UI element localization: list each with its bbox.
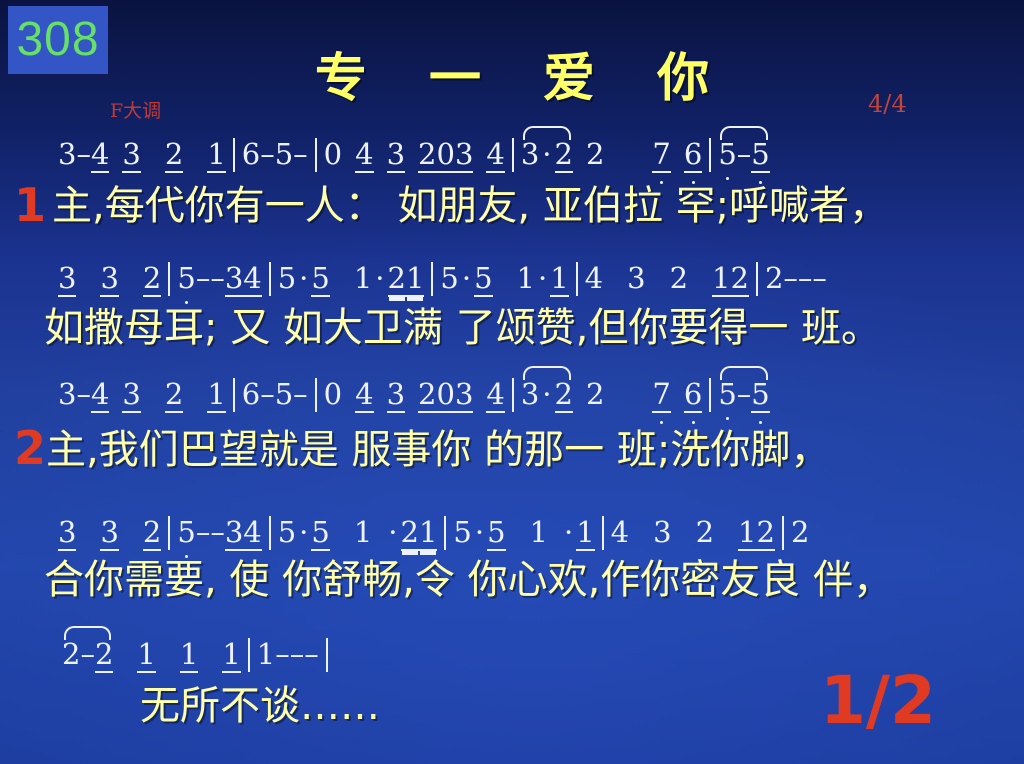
lyrics-line-2: 如撒母耳; 又 如大卫满 了颂赞,但你要得一 班。	[44, 308, 881, 348]
verse-number-1: 1	[14, 182, 46, 228]
lyrics-line-3: 主,我们巴望就是 服事你 的那一 班;洗你脚，	[46, 430, 830, 470]
lyrics-line-4: 合你需要, 使 你舒畅,令 你心欢,作你密友良 伴，	[44, 560, 893, 600]
lyrics-line-5: 无所不谈……	[140, 686, 380, 726]
lyrics-line-1: 主,每代你有一人： 如朋友, 亚伯拉 罕;呼喊者，	[52, 186, 889, 226]
notation-line-5: 2–21111–––	[62, 638, 335, 673]
notation-line-4: 3325––345·51·215·51·1432122	[58, 516, 809, 551]
time-signature-label: 4/4	[868, 90, 907, 118]
slide-canvas: 308 专 一 爱 你 F大调 4/4 1 2 3–43216–5–043203…	[0, 0, 1024, 764]
notation-line-2: 3325––345·51·215·51·1432122–––	[58, 262, 827, 297]
verse-number-2: 2	[14, 425, 46, 471]
notation-line-3: 3–43216–5–04320343·22765–5	[58, 378, 770, 413]
page-indicator: 1/2	[820, 668, 936, 734]
notation-line-1: 3–43216–5–04320343·22765–5	[58, 138, 770, 173]
key-signature-label: F大调	[110, 96, 161, 123]
